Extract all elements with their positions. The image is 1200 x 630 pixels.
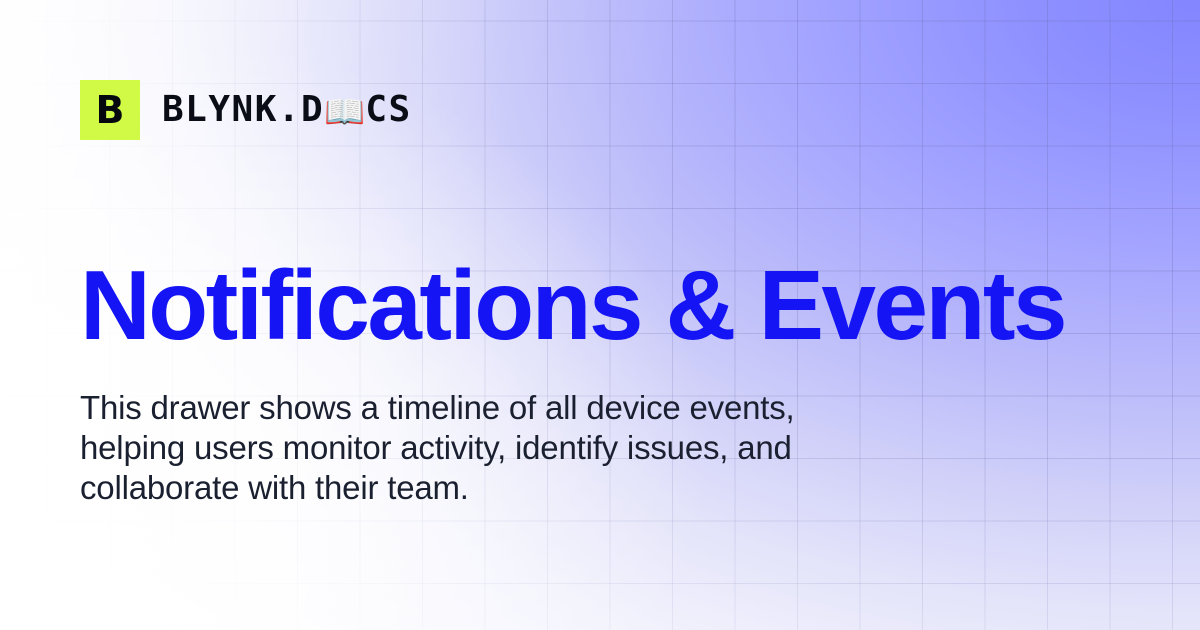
- brand-logo[interactable]: B BLYNK.D 📖 CS: [80, 80, 412, 140]
- page-title: Notifications & Events: [80, 256, 1140, 356]
- page-subtitle: This drawer shows a timeline of all devi…: [80, 388, 810, 508]
- brand-wordmark-prefix: BLYNK.D: [162, 92, 324, 128]
- open-book-icon: 📖: [324, 95, 365, 128]
- brand-wordmark-suffix: CS: [365, 92, 411, 128]
- brand-wordmark: BLYNK.D 📖 CS: [162, 92, 412, 128]
- brand-badge-letter: B: [96, 91, 125, 129]
- brand-badge: B: [80, 80, 140, 140]
- card-content: B BLYNK.D 📖 CS Notifications & Events Th…: [0, 0, 1200, 630]
- og-card: B BLYNK.D 📖 CS Notifications & Events Th…: [0, 0, 1200, 630]
